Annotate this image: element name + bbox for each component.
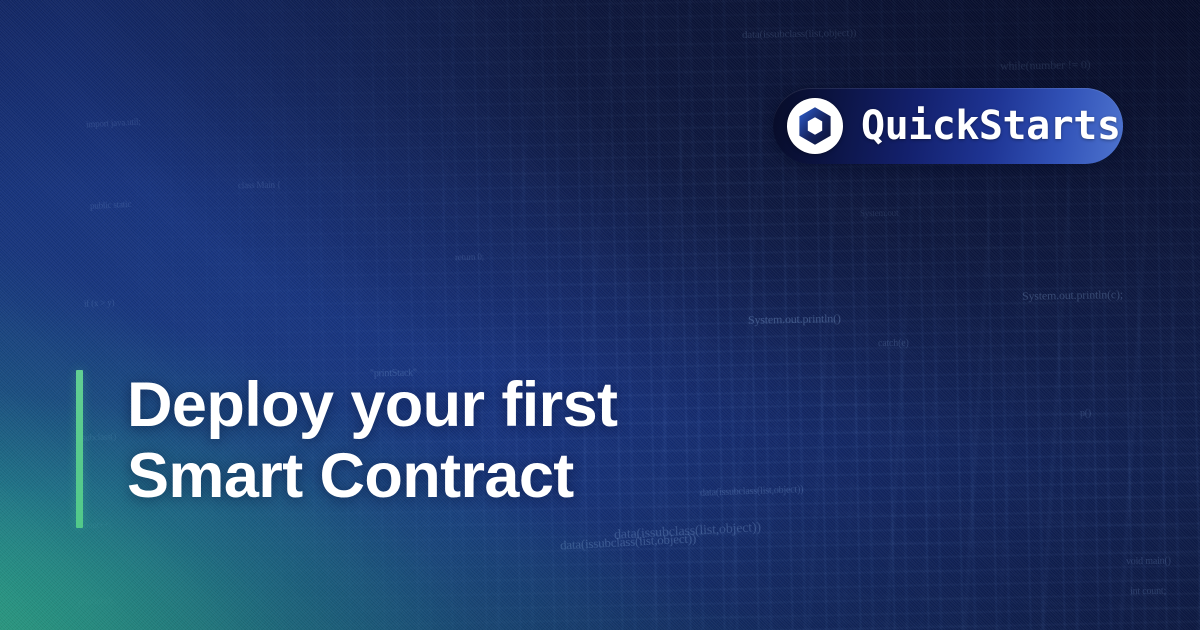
quickstarts-badge-label: QuickStarts <box>861 106 1120 146</box>
chainlink-hexagon-logo-icon <box>787 98 843 154</box>
headline-accent-bar <box>76 370 83 528</box>
headline-line-2: Smart Contract <box>127 441 617 512</box>
page-title: Deploy your first Smart Contract <box>127 370 617 528</box>
headline-line-1: Deploy your first <box>127 370 617 441</box>
headline-block: Deploy your first Smart Contract <box>76 370 617 528</box>
quickstarts-banner: data(issubclass(list,object))while(numbe… <box>0 0 1200 630</box>
quickstarts-badge[interactable]: QuickStarts <box>773 88 1123 164</box>
